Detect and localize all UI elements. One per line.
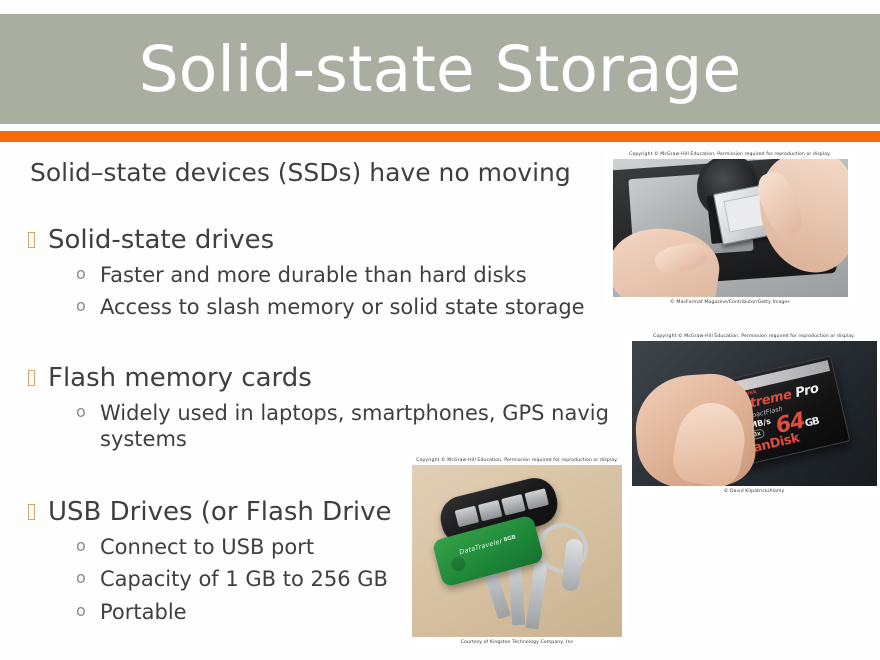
bullet-level2-label: Connect to USB port [100, 534, 314, 560]
usb-capacity-label: 8GB [503, 534, 517, 543]
circle-bullet-icon: o [76, 294, 100, 319]
usb-model-label: DataTraveler [458, 537, 503, 556]
bullet-level1-row: Solid-state drives [0, 225, 700, 256]
photo-usb-image: DataTraveler 8GB [412, 465, 622, 637]
bullet-level2-label: Faster and more durable than hard disks [100, 262, 527, 288]
bullet-level2-row: o Widely used in laptops, smartphones, G… [0, 400, 700, 453]
photo-sandisk-compactflash: Copyright © McGraw-Hill Education. Permi… [628, 334, 880, 494]
accent-divider-bar [0, 131, 880, 142]
bullet-level1-label: USB Drives (or Flash Drive [48, 497, 391, 528]
photo-cf-image: SanDisk Extreme Pro CompactFlash 90MB/s … [632, 341, 877, 486]
photo-copyright-caption: Copyright © McGraw-Hill Education. Permi… [628, 334, 880, 341]
photo-ssd-laptop-install: Copyright © McGraw-Hill Education. Permi… [605, 152, 855, 305]
circle-bullet-icon: o [76, 566, 100, 591]
bullet-level2-row: o Faster and more durable than hard disk… [0, 262, 700, 288]
bullet-level2-label: Access to slash memory or solid state st… [100, 294, 585, 320]
bullet-level2-row: o Access to slash memory or solid state … [0, 294, 700, 320]
page-title: Solid-state Storage [139, 38, 741, 101]
photo-credit-caption: © David Kilpatrick/Alamy [628, 486, 880, 494]
slide-title-band: Solid-state Storage [0, 14, 880, 124]
bullet-level2-label: Portable [100, 599, 187, 625]
card-capacity-unit: GB [803, 416, 819, 430]
bullet-level1-label: Solid-state drives [48, 225, 274, 256]
bullet-block-flash-memory-cards: Flash memory cards o Widely used in lapt… [0, 363, 700, 453]
bullet-level2-label: Capacity of 1 GB to 256 GB [100, 566, 388, 592]
circle-bullet-icon: o [76, 599, 100, 624]
bullet-block-solid-state-drives: Solid-state drives o Faster and more dur… [0, 225, 700, 321]
square-bullet-icon [28, 497, 48, 525]
circle-bullet-icon: o [76, 400, 100, 425]
photo-ssd-image [613, 159, 848, 297]
circle-bullet-icon: o [76, 262, 100, 287]
bullet-level1-label: Flash memory cards [48, 363, 312, 394]
bullet-level2-label: Widely used in laptops, smartphones, GPS… [100, 400, 660, 453]
square-bullet-icon [28, 363, 48, 391]
photo-credit-caption: Courtesy of Kingston Technology Company,… [408, 637, 626, 645]
photo-copyright-caption: Copyright © McGraw-Hill Education. Permi… [408, 458, 626, 465]
card-line-pro: Pro [793, 381, 819, 401]
photo-usb-flash-drive-keyring: Copyright © McGraw-Hill Education. Permi… [408, 458, 626, 645]
photo-credit-caption: © MacFormat Magazine/Contributor/Getty I… [605, 297, 855, 305]
bullet-level1-row: Flash memory cards [0, 363, 700, 394]
circle-bullet-icon: o [76, 534, 100, 559]
square-bullet-icon [28, 225, 48, 253]
slide: Solid-state Storage Solid–state devices … [0, 0, 880, 660]
photo-copyright-caption: Copyright © McGraw-Hill Education. Permi… [605, 152, 855, 159]
lead-statement: Solid–state devices (SSDs) have no movin… [30, 158, 571, 187]
